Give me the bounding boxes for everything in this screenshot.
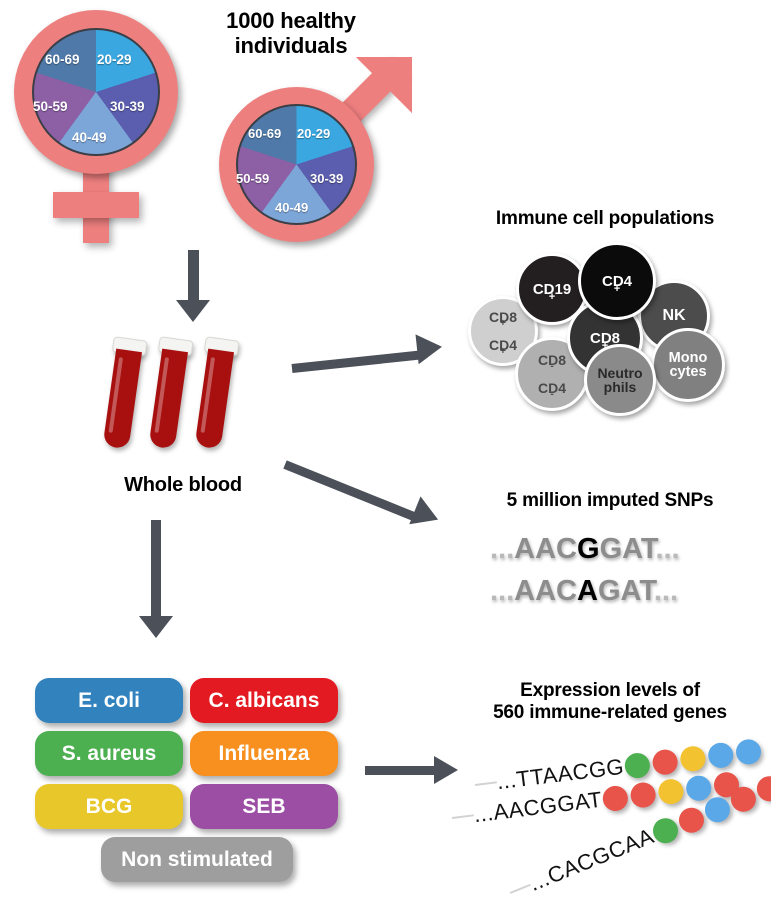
female-gender-symbol: 60-69 20-29 50-59 30-39 40-49: [6, 8, 196, 248]
whole-blood-tubes: [100, 330, 300, 460]
stimulus-non-stimulated[interactable]: Non stimulated: [101, 837, 293, 882]
stimulation-conditions: E. coli C. albicans S. aureus Influenza …: [35, 678, 345, 898]
stimulus-s-aureus[interactable]: S. aureus: [35, 731, 183, 776]
stimulus-influenza[interactable]: Influenza: [190, 731, 338, 776]
blood-tube-3: [190, 336, 239, 452]
pie-label-50-59-male: 50-59: [236, 171, 269, 186]
pie-label-20-29-male: 20-29: [297, 126, 330, 141]
snps-title: 5 million imputed SNPs: [460, 490, 760, 512]
blood-tube-2: [144, 336, 193, 452]
strand-rule-1: [475, 781, 497, 786]
male-gender-symbol: 60-69 20-29 50-59 30-39 40-49: [205, 55, 420, 250]
immune-cell-monocytes: Mono cytes: [651, 328, 725, 402]
stimulus-bcg[interactable]: BCG: [35, 784, 183, 829]
immune-cell-cluster: CD8+ CD4+ CD19+ CD4+ NK CD8+: [455, 240, 755, 415]
strand-rule-3: [510, 884, 531, 894]
gene-expression-title-line2: 560 immune-related genes: [455, 702, 765, 724]
strand-bead: [735, 737, 763, 765]
snp-allele-row-1: ...AACGGAT...: [490, 533, 680, 566]
pie-label-30-39-male: 30-39: [310, 171, 343, 186]
figure-canvas: 60-69 20-29 50-59 30-39 40-49 1000 healt…: [0, 0, 771, 922]
stimulus-e-coli[interactable]: E. coli: [35, 678, 183, 723]
strand-bead: [602, 784, 630, 812]
stimulus-seb[interactable]: SEB: [190, 784, 338, 829]
strand-bead: [623, 751, 651, 779]
cohort-title: 1000 healthy individuals: [178, 8, 404, 59]
cohort-title-line1: 1000 healthy: [178, 8, 404, 33]
pie-label-30-39: 30-39: [110, 99, 145, 114]
pie-label-60-69: 60-69: [45, 52, 80, 67]
whole-blood-label: Whole blood: [88, 474, 278, 497]
strand-bead: [657, 777, 685, 805]
female-symbol-crossbar: [53, 192, 139, 218]
strand-bead: [651, 748, 679, 776]
pie-label-50-59: 50-59: [33, 99, 68, 114]
immune-cell-populations-title: Immune cell populations: [455, 208, 755, 230]
gene-expression-title: Expression levels of 560 immune-related …: [455, 680, 765, 724]
strand-bead: [679, 744, 707, 772]
stimulus-c-albicans[interactable]: C. albicans: [190, 678, 338, 723]
pie-label-40-49-male: 40-49: [275, 200, 308, 215]
immune-cell-cd4pos: CD4+: [578, 242, 656, 320]
strand-rule-2: [452, 814, 474, 819]
snp-allele-row-2: ...AACAGAT...: [490, 575, 678, 608]
pie-label-20-29: 20-29: [97, 52, 132, 67]
pie-label-40-49: 40-49: [72, 130, 107, 145]
blood-tube-1: [98, 336, 147, 452]
gene-expression-title-line1: Expression levels of: [455, 680, 765, 702]
strand-bead: [675, 803, 708, 836]
strand-bead: [707, 741, 735, 769]
immune-cell-neutrophils: Neutro phils: [584, 344, 656, 416]
strand-bead: [629, 781, 657, 809]
strand-sequence-3: ...CACGCAA: [526, 823, 658, 897]
pie-label-60-69-male: 60-69: [248, 126, 281, 141]
